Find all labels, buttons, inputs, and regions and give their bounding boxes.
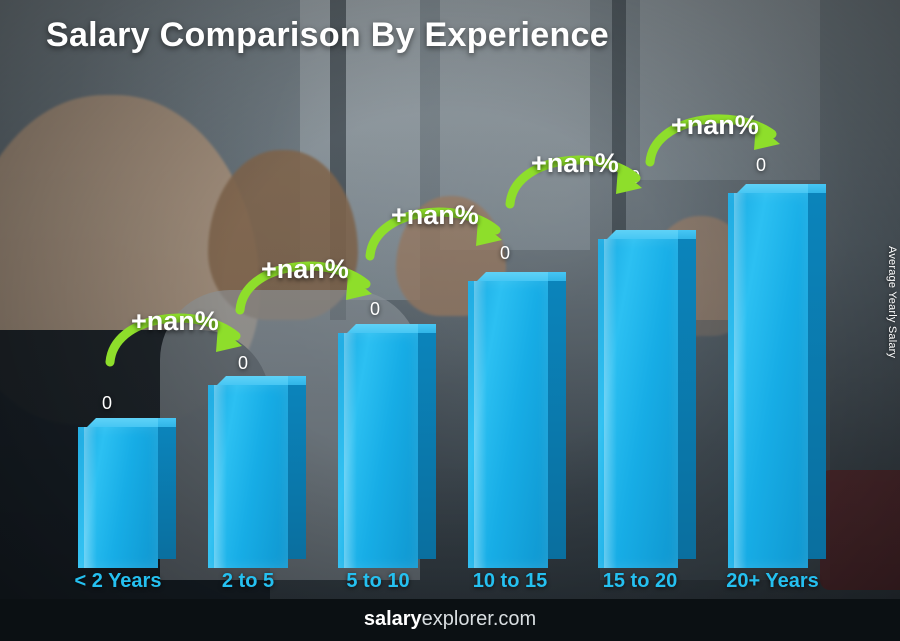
bar-front-face [728,193,808,568]
bar-0 [78,427,158,568]
bar-5 [728,193,808,568]
category-label-2: 5 to 10 [318,570,438,593]
bar-front-face [208,385,288,568]
bar-side-face [808,193,826,559]
bar-front-face [78,427,158,568]
category-label-4: 15 to 20 [575,570,705,593]
growth-percent-4: +nan% [671,110,759,141]
bar-front-face [598,239,678,568]
bar-side-face [288,385,306,559]
bar-side-face [548,281,566,559]
bar-front-face [468,281,548,568]
brand-bold: salary [364,608,422,630]
brand-wordmark: salaryexplorer.com [0,608,900,631]
bar-1 [208,385,288,568]
bar-side-face [418,333,436,559]
brand-tld: .com [493,608,536,630]
bar-side-face [158,427,176,559]
brand-light: explorer [422,608,493,630]
chart-infographic: Salary Comparison By Experience Average … [0,0,900,641]
bar-3 [468,281,548,568]
plot-area: 0 0 0 0 0 [0,0,900,641]
footer-bar: salaryexplorer.com [0,599,900,641]
category-label-5: 20+ Years [705,570,840,593]
growth-percent-3: +nan% [531,148,619,179]
category-label-3: 10 to 15 [445,570,575,593]
category-label-1: 2 to 5 [188,570,308,593]
value-label-0: 0 [102,393,112,414]
bar-2 [338,333,418,568]
category-label-0: < 2 Years [58,570,178,593]
bar-4 [598,239,678,568]
growth-percent-1: +nan% [261,254,349,285]
bar-front-face [338,333,418,568]
growth-percent-0: +nan% [131,306,219,337]
bar-side-face [678,239,696,559]
growth-percent-2: +nan% [391,200,479,231]
